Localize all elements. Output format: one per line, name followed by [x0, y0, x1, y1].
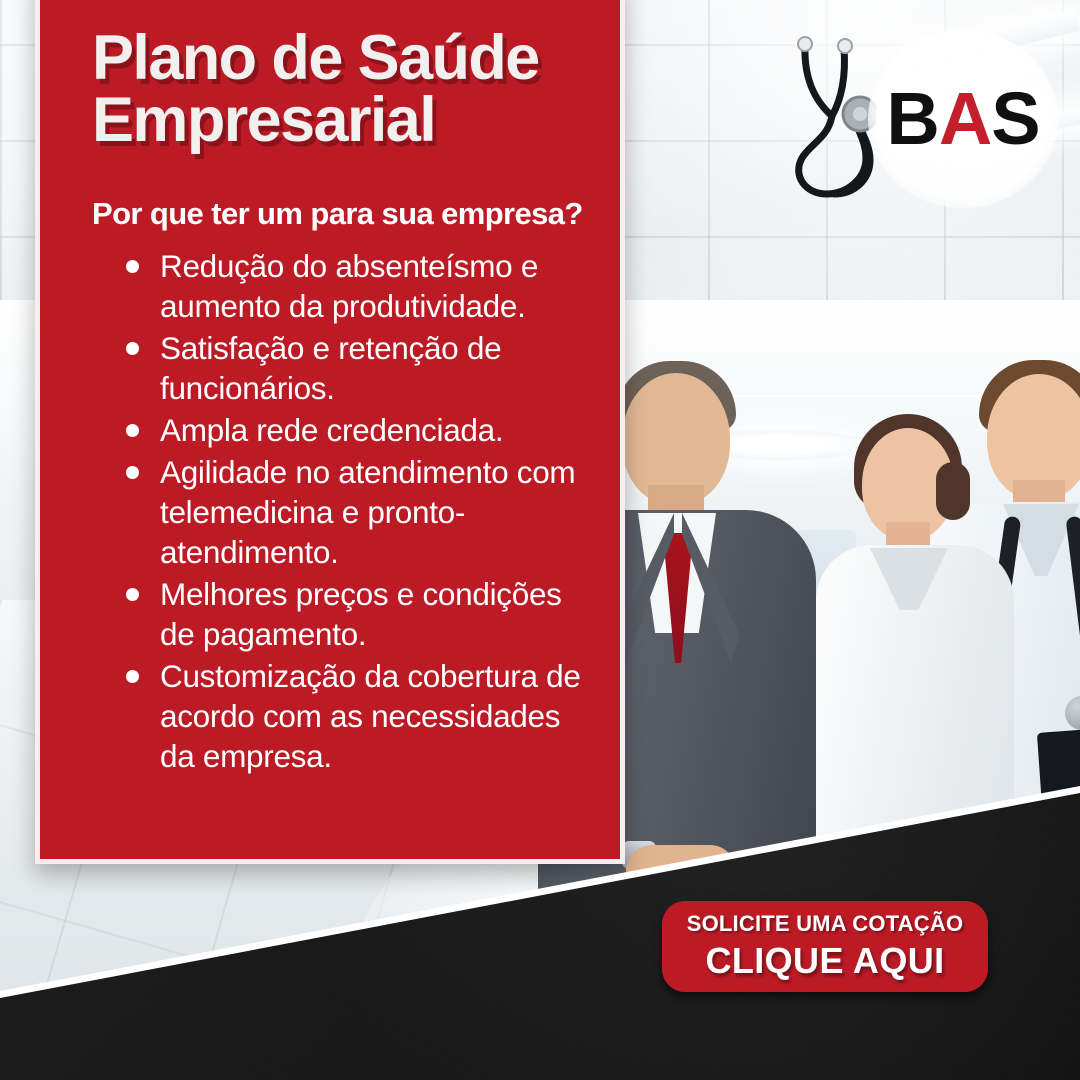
quote-cta-button[interactable]: SOLICITE UMA COTAÇÃO CLIQUE AQUI — [662, 901, 988, 992]
headline-line-2: Empresarial — [92, 89, 620, 151]
logo-letter-a: A — [939, 77, 991, 160]
cta-top-label: SOLICITE UMA COTAÇÃO — [687, 911, 964, 937]
logo-letter-b: B — [886, 77, 938, 160]
promo-poster: BAS — [0, 0, 1080, 1080]
list-item: Satisfação e retenção de funcionários. — [126, 328, 584, 408]
logo-letter-s: S — [991, 77, 1039, 160]
page-title: Plano de Saúde Empresarial — [92, 27, 620, 152]
list-item: Melhores preços e condições de pagamento… — [126, 574, 584, 654]
content-panel: Plano de Saúde Empresarial Por que ter u… — [35, 0, 625, 864]
bas-logo: BAS — [868, 30, 1058, 208]
headline-line-1: Plano de Saúde — [92, 23, 539, 93]
list-item: Ampla rede credenciada. — [126, 410, 584, 450]
cta-main-label: CLIQUE AQUI — [705, 940, 944, 982]
list-item: Redução do absenteísmo e aumento da prod… — [126, 246, 584, 326]
list-item: Agilidade no atendimento com telemedicin… — [126, 452, 584, 572]
benefits-list: Redução do absenteísmo e aumento da prod… — [92, 246, 620, 776]
logo-wordmark: BAS — [886, 82, 1039, 156]
list-item: Customização da cobertura de acordo com … — [126, 656, 584, 776]
nurse-hair-side — [936, 462, 970, 520]
subheading: Por que ter um para sua empresa? — [92, 196, 620, 232]
